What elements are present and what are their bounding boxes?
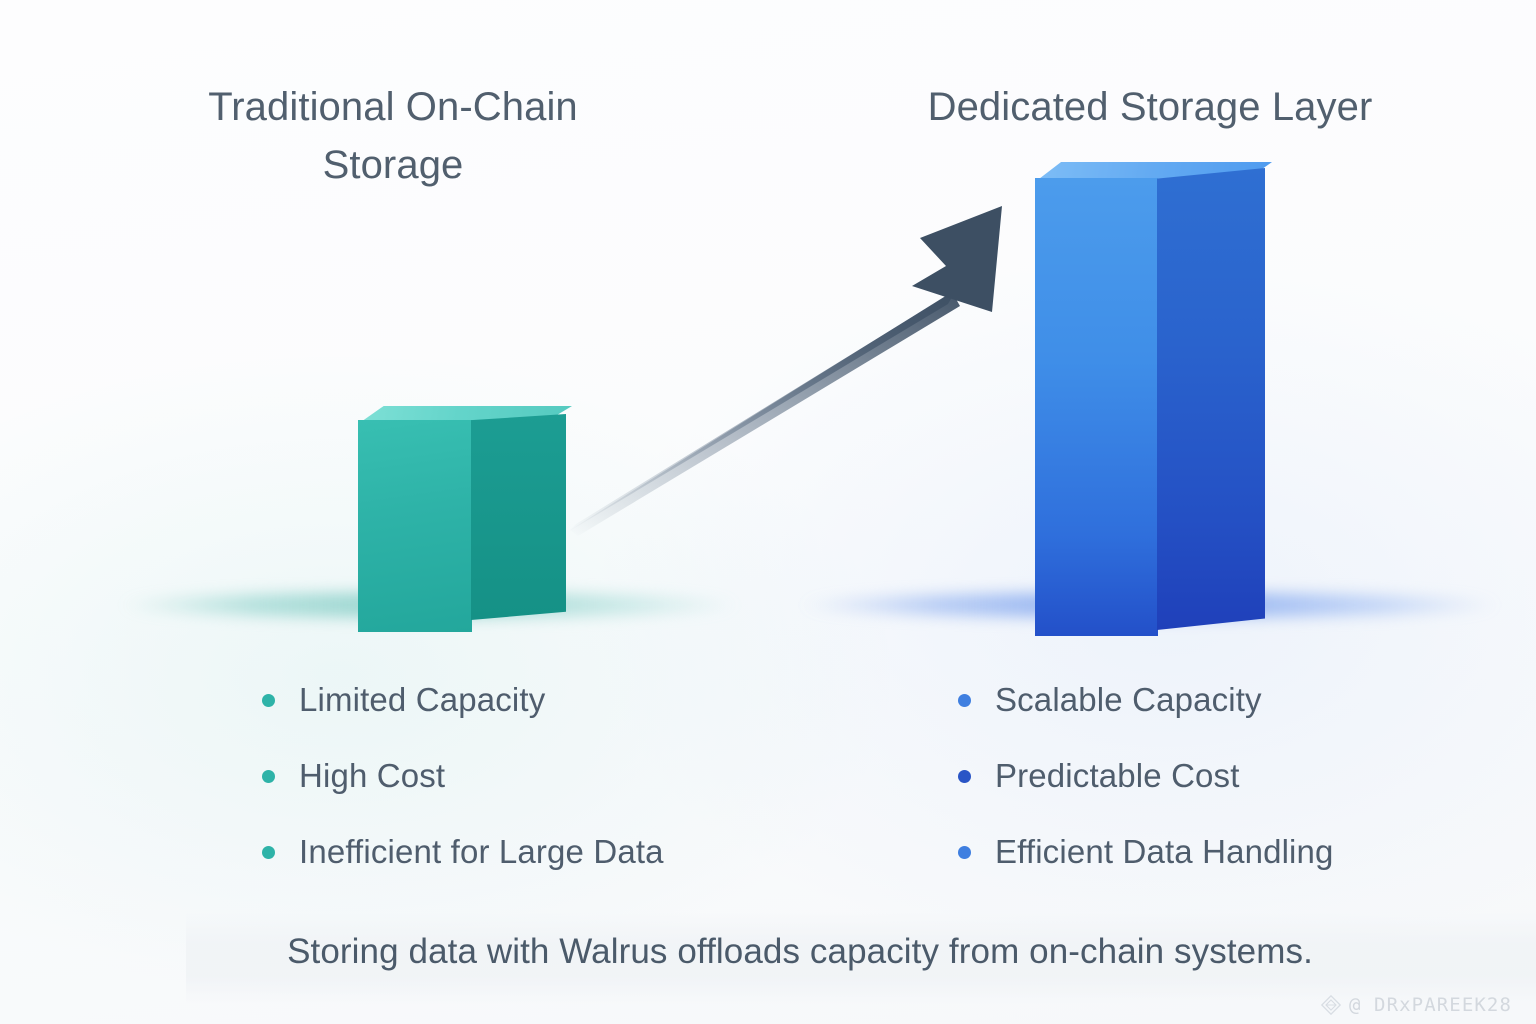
list-item: Inefficient for Large Data — [262, 814, 822, 890]
growth-arrow-icon — [540, 180, 1040, 560]
bullet-label: High Cost — [299, 757, 445, 795]
bullet-dot-icon — [958, 770, 971, 783]
bullet-dot-icon — [262, 846, 275, 859]
bullet-label: Predictable Cost — [995, 757, 1240, 795]
column-title-dedicated: Dedicated Storage Layer — [872, 78, 1428, 136]
bullet-label: Limited Capacity — [299, 681, 545, 719]
list-item: Limited Capacity — [262, 662, 822, 738]
bullet-dot-icon — [262, 770, 275, 783]
watermark-handle: @ DRxPAREEK28 — [1349, 994, 1512, 1016]
bar-front-face — [1035, 178, 1158, 636]
bullet-dot-icon — [958, 694, 971, 707]
bullet-label: Efficient Data Handling — [995, 833, 1334, 871]
list-item: High Cost — [262, 738, 822, 814]
bullet-list-traditional: Limited Capacity High Cost Inefficient f… — [262, 662, 822, 890]
list-item: Predictable Cost — [958, 738, 1518, 814]
bullet-list-dedicated: Scalable Capacity Predictable Cost Effic… — [958, 662, 1518, 890]
bullet-label: Scalable Capacity — [995, 681, 1262, 719]
bullet-dot-icon — [262, 694, 275, 707]
bullet-dot-icon — [958, 846, 971, 859]
bar-dedicated-storage-layer — [1030, 162, 1272, 636]
column-title-traditional: Traditional On-Chain Storage — [148, 78, 638, 194]
caption-text: Storing data with Walrus offloads capaci… — [150, 932, 1450, 972]
list-item: Scalable Capacity — [958, 662, 1518, 738]
bar-front-face — [358, 420, 472, 632]
bar-side-face — [1157, 168, 1265, 630]
watermark: @ DRxPAREEK28 — [1320, 994, 1512, 1016]
diamond-logo-icon — [1320, 994, 1342, 1016]
list-item: Efficient Data Handling — [958, 814, 1518, 890]
infographic-canvas: Traditional On-Chain Storage Dedicated S… — [0, 0, 1536, 1024]
bar-traditional-on-chain-storage — [352, 406, 572, 636]
bullet-label: Inefficient for Large Data — [299, 833, 664, 871]
